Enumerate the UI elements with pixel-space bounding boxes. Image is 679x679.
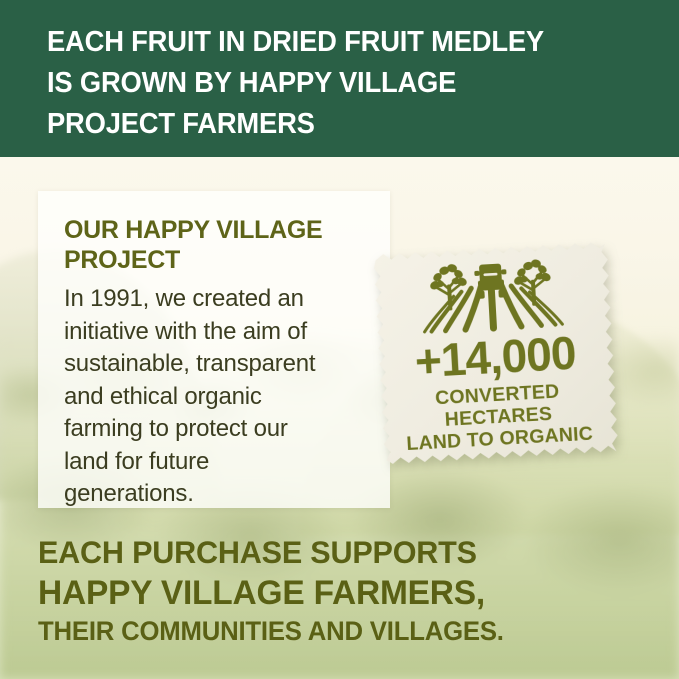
card-body-text: In 1991, we created an initiative with t…: [64, 283, 364, 511]
stamp-content: +14,000 CONVERTED HECTARES LAND TO ORGAN…: [369, 239, 621, 470]
stamp-value: +14,000: [414, 330, 577, 385]
bottom-line-1: EACH PURCHASE SUPPORTS: [38, 533, 649, 572]
bottom-line-2: HAPPY VILLAGE FARMERS,: [38, 572, 649, 614]
bottom-headline: EACH PURCHASE SUPPORTS HAPPY VILLAGE FAR…: [38, 533, 668, 648]
hectares-stamp-badge: +14,000 CONVERTED HECTARES LAND TO ORGAN…: [369, 239, 621, 470]
card-heading: OUR HAPPY VILLAGE PROJECT: [64, 215, 364, 275]
header-title: EACH FRUIT IN DRIED FRUIT MEDLEY IS GROW…: [47, 22, 625, 145]
header-banner: EACH FRUIT IN DRIED FRUIT MEDLEY IS GROW…: [0, 0, 679, 157]
info-card: OUR HAPPY VILLAGE PROJECT In 1991, we cr…: [38, 191, 390, 508]
promo-banner: EACH FRUIT IN DRIED FRUIT MEDLEY IS GROW…: [0, 0, 679, 679]
bottom-line-3: THEIR COMMUNITIES AND VILLAGES.: [38, 614, 649, 648]
stamp-line-3: LAND TO ORGANIC: [406, 423, 594, 455]
farm-tractor-trees-field-icon: [410, 254, 574, 337]
